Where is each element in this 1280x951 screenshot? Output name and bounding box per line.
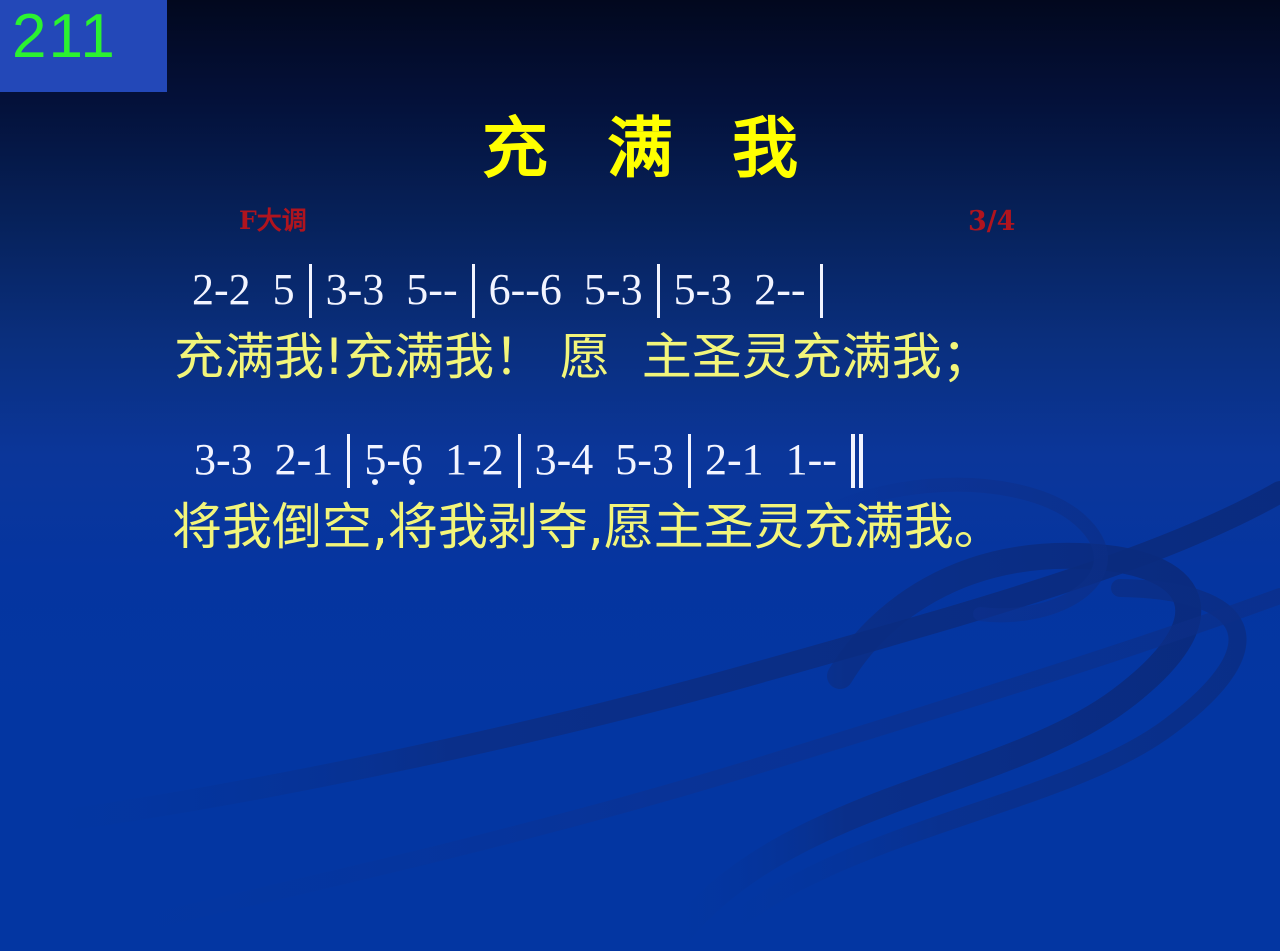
music-system-2: 3-3 2-15-6 1-23-4 5-32-1 1-- 将我倒空,将我剥夺,愿… [0, 432, 1280, 560]
measure: 3-4 5-3 [535, 432, 674, 488]
note-group: 5 [364, 432, 386, 488]
barline [688, 434, 691, 488]
measure: 5-6 1-2 [364, 432, 503, 488]
barline [518, 434, 521, 488]
lyrics-row-2: 将我倒空,将我剥夺,愿主圣灵充满我。 [0, 494, 1280, 560]
note-group: 3-4 5-3 [535, 432, 674, 488]
note-group: 2-1 1-- [705, 432, 837, 488]
page-number-text: 211 [12, 6, 117, 68]
slide-canvas: 211 充 满 我 F大调 3/4 2-2 53-3 5--6--6 5-35-… [0, 0, 1280, 951]
page-number-badge: 211 [0, 0, 167, 92]
measure: 6--6 5-3 [489, 262, 643, 318]
score-metadata-row: F大调 3/4 [0, 207, 1280, 243]
notation-row-1: 2-2 53-3 5--6--6 5-35-3 2-- [0, 262, 1280, 324]
note-group: 3-3 2-1 [194, 432, 333, 488]
measure: 2-2 5 [192, 262, 295, 318]
measure: 2-1 1-- [705, 432, 837, 488]
final-barline [851, 434, 864, 488]
note-group: 1-2 [423, 432, 504, 488]
barline [820, 264, 823, 318]
barline [657, 264, 660, 318]
measure: 3-3 2-1 [194, 432, 333, 488]
measure: 5-3 2-- [674, 262, 806, 318]
key-signature-label: F大调 [239, 207, 307, 235]
measure: 3-3 5-- [326, 262, 458, 318]
page-title: 充 满 我 [0, 116, 1280, 182]
barline [472, 264, 475, 318]
music-system-1: 2-2 53-3 5--6--6 5-35-3 2-- 充满我!充满我！ 愿 主… [0, 262, 1280, 390]
note-group: - [386, 432, 401, 488]
note-group: 5-3 2-- [674, 262, 806, 318]
barline [309, 264, 312, 318]
lyrics-row-1: 充满我!充满我！ 愿 主圣灵充满我； [0, 324, 1280, 390]
note-group: 6 [401, 432, 423, 488]
note-group: 2-2 5 [192, 262, 295, 318]
note-group: 3-3 5-- [326, 262, 458, 318]
barline [347, 434, 350, 488]
notation-row-2: 3-3 2-15-6 1-23-4 5-32-1 1-- [0, 432, 1280, 494]
time-signature-label: 3/4 [968, 207, 1015, 237]
note-group: 6--6 5-3 [489, 262, 643, 318]
